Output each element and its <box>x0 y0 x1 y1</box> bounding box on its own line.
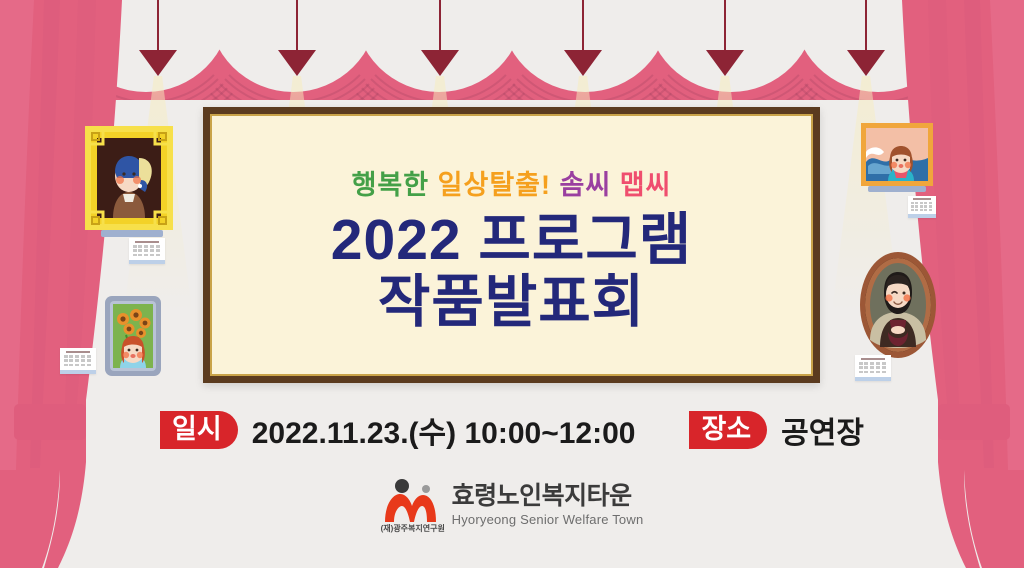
plaque-grid-cell <box>81 355 85 358</box>
plaque-header-bar <box>861 358 884 360</box>
plaque-grid-cell <box>81 364 85 367</box>
stage-lamp-cord <box>724 0 726 52</box>
plaque-header-bar <box>135 241 158 243</box>
poster-subtitle: 행복한 일상탈출! 솜씨 맵씨 <box>352 163 672 202</box>
organization-logo: (재)광주복지연구원 효령노인복지타운 Hyoryeong Senior Wel… <box>0 478 1024 532</box>
plaque-grid-cell <box>920 209 923 211</box>
plaque-grid-cell <box>929 209 932 211</box>
date-badge: 일시 <box>160 411 238 449</box>
plaque-grid-cell <box>924 209 927 211</box>
plaque-grid-cell <box>911 205 914 207</box>
plaque-grid-cell <box>133 245 137 248</box>
subtitle-part-2: 일상탈출! <box>438 170 551 200</box>
plaque-grid-cell <box>915 205 918 207</box>
plaque-grid-cell <box>150 245 154 248</box>
plaque-grid-cell <box>929 205 932 207</box>
poster-title-line-1: 2022 프로그램 <box>331 210 692 272</box>
subtitle-part-3: 솜씨 <box>560 170 612 200</box>
plaque-grid-cell <box>144 254 148 257</box>
plaque-grid-cell <box>133 254 137 257</box>
mona-lisa-artwork-svg <box>858 250 938 360</box>
plaque-grid-cell <box>870 366 874 369</box>
plaque-grid-cell <box>69 355 73 358</box>
stage-lamp-shade <box>847 50 885 76</box>
plaque-grid-cell <box>911 209 914 211</box>
place-value: 공연장 <box>781 408 864 452</box>
plaque-grid-cell <box>870 362 874 365</box>
plaque-grid-cell <box>876 366 880 369</box>
sunflowers-artwork-svg <box>104 295 162 377</box>
plaque-grid-cell <box>870 371 874 374</box>
plaque-grid-cell <box>864 371 868 374</box>
logo-text-block: 효령노인복지타운 Hyoryeong Senior Welfare Town <box>452 484 644 526</box>
pearl-earring-artwork-svg <box>83 124 175 242</box>
stage-lamp-cord <box>439 0 441 52</box>
plaque-grid-cell <box>138 249 142 252</box>
poster-title-line-2: 작품발표회 <box>378 272 645 334</box>
logo-name-english: Hyoryeong Senior Welfare Town <box>452 513 644 526</box>
plaque-grid-cell <box>864 362 868 365</box>
plaque-grid-cell <box>876 371 880 374</box>
date-value: 2022.11.23.(수) 10:00~12:00 <box>252 408 636 452</box>
plaque-grid-cell <box>75 359 79 362</box>
plaque-grid-cell <box>144 245 148 248</box>
plaque-grid-cell <box>156 245 160 248</box>
place-badge: 장소 <box>689 411 767 449</box>
great-wave-artwork-svg <box>860 122 938 196</box>
stage-lamp-shade <box>564 50 602 76</box>
plaque-grid-cell <box>924 202 927 204</box>
plaque-grid-cell <box>882 362 886 365</box>
plaque-grid-cell <box>882 371 886 374</box>
plaque-grid-cell <box>138 245 142 248</box>
great-wave-painting <box>860 122 938 201</box>
plaque-header-bar <box>66 351 89 353</box>
plaque-grid-cell <box>929 202 932 204</box>
plaque-grid-cell <box>81 359 85 362</box>
plaque-grid-cell <box>859 362 863 365</box>
hyoryeong-logo-mark: (재)광주복지연구원 <box>381 478 443 532</box>
plaque-header-bar <box>913 198 931 200</box>
stage-lamp-cord <box>296 0 298 52</box>
girl-with-pearl-earring-painting <box>83 124 175 247</box>
plaque-grid-cell <box>920 205 923 207</box>
plaque-grid-cell <box>69 359 73 362</box>
plaque-grid-cell <box>859 366 863 369</box>
logo-institute-name: (재)광주복지연구원 <box>381 523 455 534</box>
plaque-grid-cell <box>859 371 863 374</box>
plaque-grid-cell <box>64 355 68 358</box>
plaque-grid-cell <box>75 364 79 367</box>
plaque-grid-cell <box>915 209 918 211</box>
plaque-grid-cell <box>915 202 918 204</box>
wall-plaque-right-lower <box>855 355 891 381</box>
wall-plaque-left-lower <box>60 348 96 374</box>
plaque-grid-cell <box>911 202 914 204</box>
plaque-grid-cell <box>87 364 91 367</box>
plaque-grid-cell <box>156 249 160 252</box>
plaque-grid-cell <box>64 364 68 367</box>
plaque-grid-cell <box>150 249 154 252</box>
plaque-grid-cell <box>156 254 160 257</box>
plaque-grid-cell <box>87 355 91 358</box>
main-title-board-inner: 행복한 일상탈출! 솜씨 맵씨 2022 프로그램 작품발표회 <box>210 114 813 376</box>
plaque-grid-cell <box>75 355 79 358</box>
plaque-grid-cell <box>876 362 880 365</box>
plaque-grid-cell <box>924 205 927 207</box>
subtitle-part-1: 행복한 <box>352 170 430 200</box>
plaque-grid-cell <box>133 249 137 252</box>
plaque-grid-cell <box>64 359 68 362</box>
wall-plaque-right-upper <box>908 196 936 218</box>
plaque-grid-cell <box>864 366 868 369</box>
sunflowers-painting <box>104 295 162 382</box>
stage-lamp-shade <box>706 50 744 76</box>
mona-lisa-portrait <box>858 250 938 365</box>
main-title-board: 행복한 일상탈출! 솜씨 맵씨 2022 프로그램 작품발표회 <box>203 107 820 383</box>
plaque-grid-cell <box>920 202 923 204</box>
stage-lamp-shade <box>139 50 177 76</box>
logo-name-korean: 효령노인복지타운 <box>452 484 644 509</box>
stage-lamp-shade <box>421 50 459 76</box>
plaque-grid-cell <box>69 364 73 367</box>
event-poster: 행복한 일상탈출! 솜씨 맵씨 2022 프로그램 작품발표회 일시 2022.… <box>0 0 1024 568</box>
stage-lamp-shade <box>278 50 316 76</box>
plaque-grid-cell <box>150 254 154 257</box>
stage-lamp-cord <box>157 0 159 52</box>
stage-lamp-cord <box>582 0 584 52</box>
plaque-grid-cell <box>882 366 886 369</box>
plaque-grid-cell <box>87 359 91 362</box>
event-info-row: 일시 2022.11.23.(수) 10:00~12:00 장소 공연장 <box>0 404 1024 456</box>
plaque-grid-cell <box>144 249 148 252</box>
subtitle-part-4: 맵씨 <box>620 170 672 200</box>
plaque-grid-cell <box>138 254 142 257</box>
stage-lamp-cord <box>865 0 867 52</box>
wall-plaque-left-upper <box>129 238 165 264</box>
